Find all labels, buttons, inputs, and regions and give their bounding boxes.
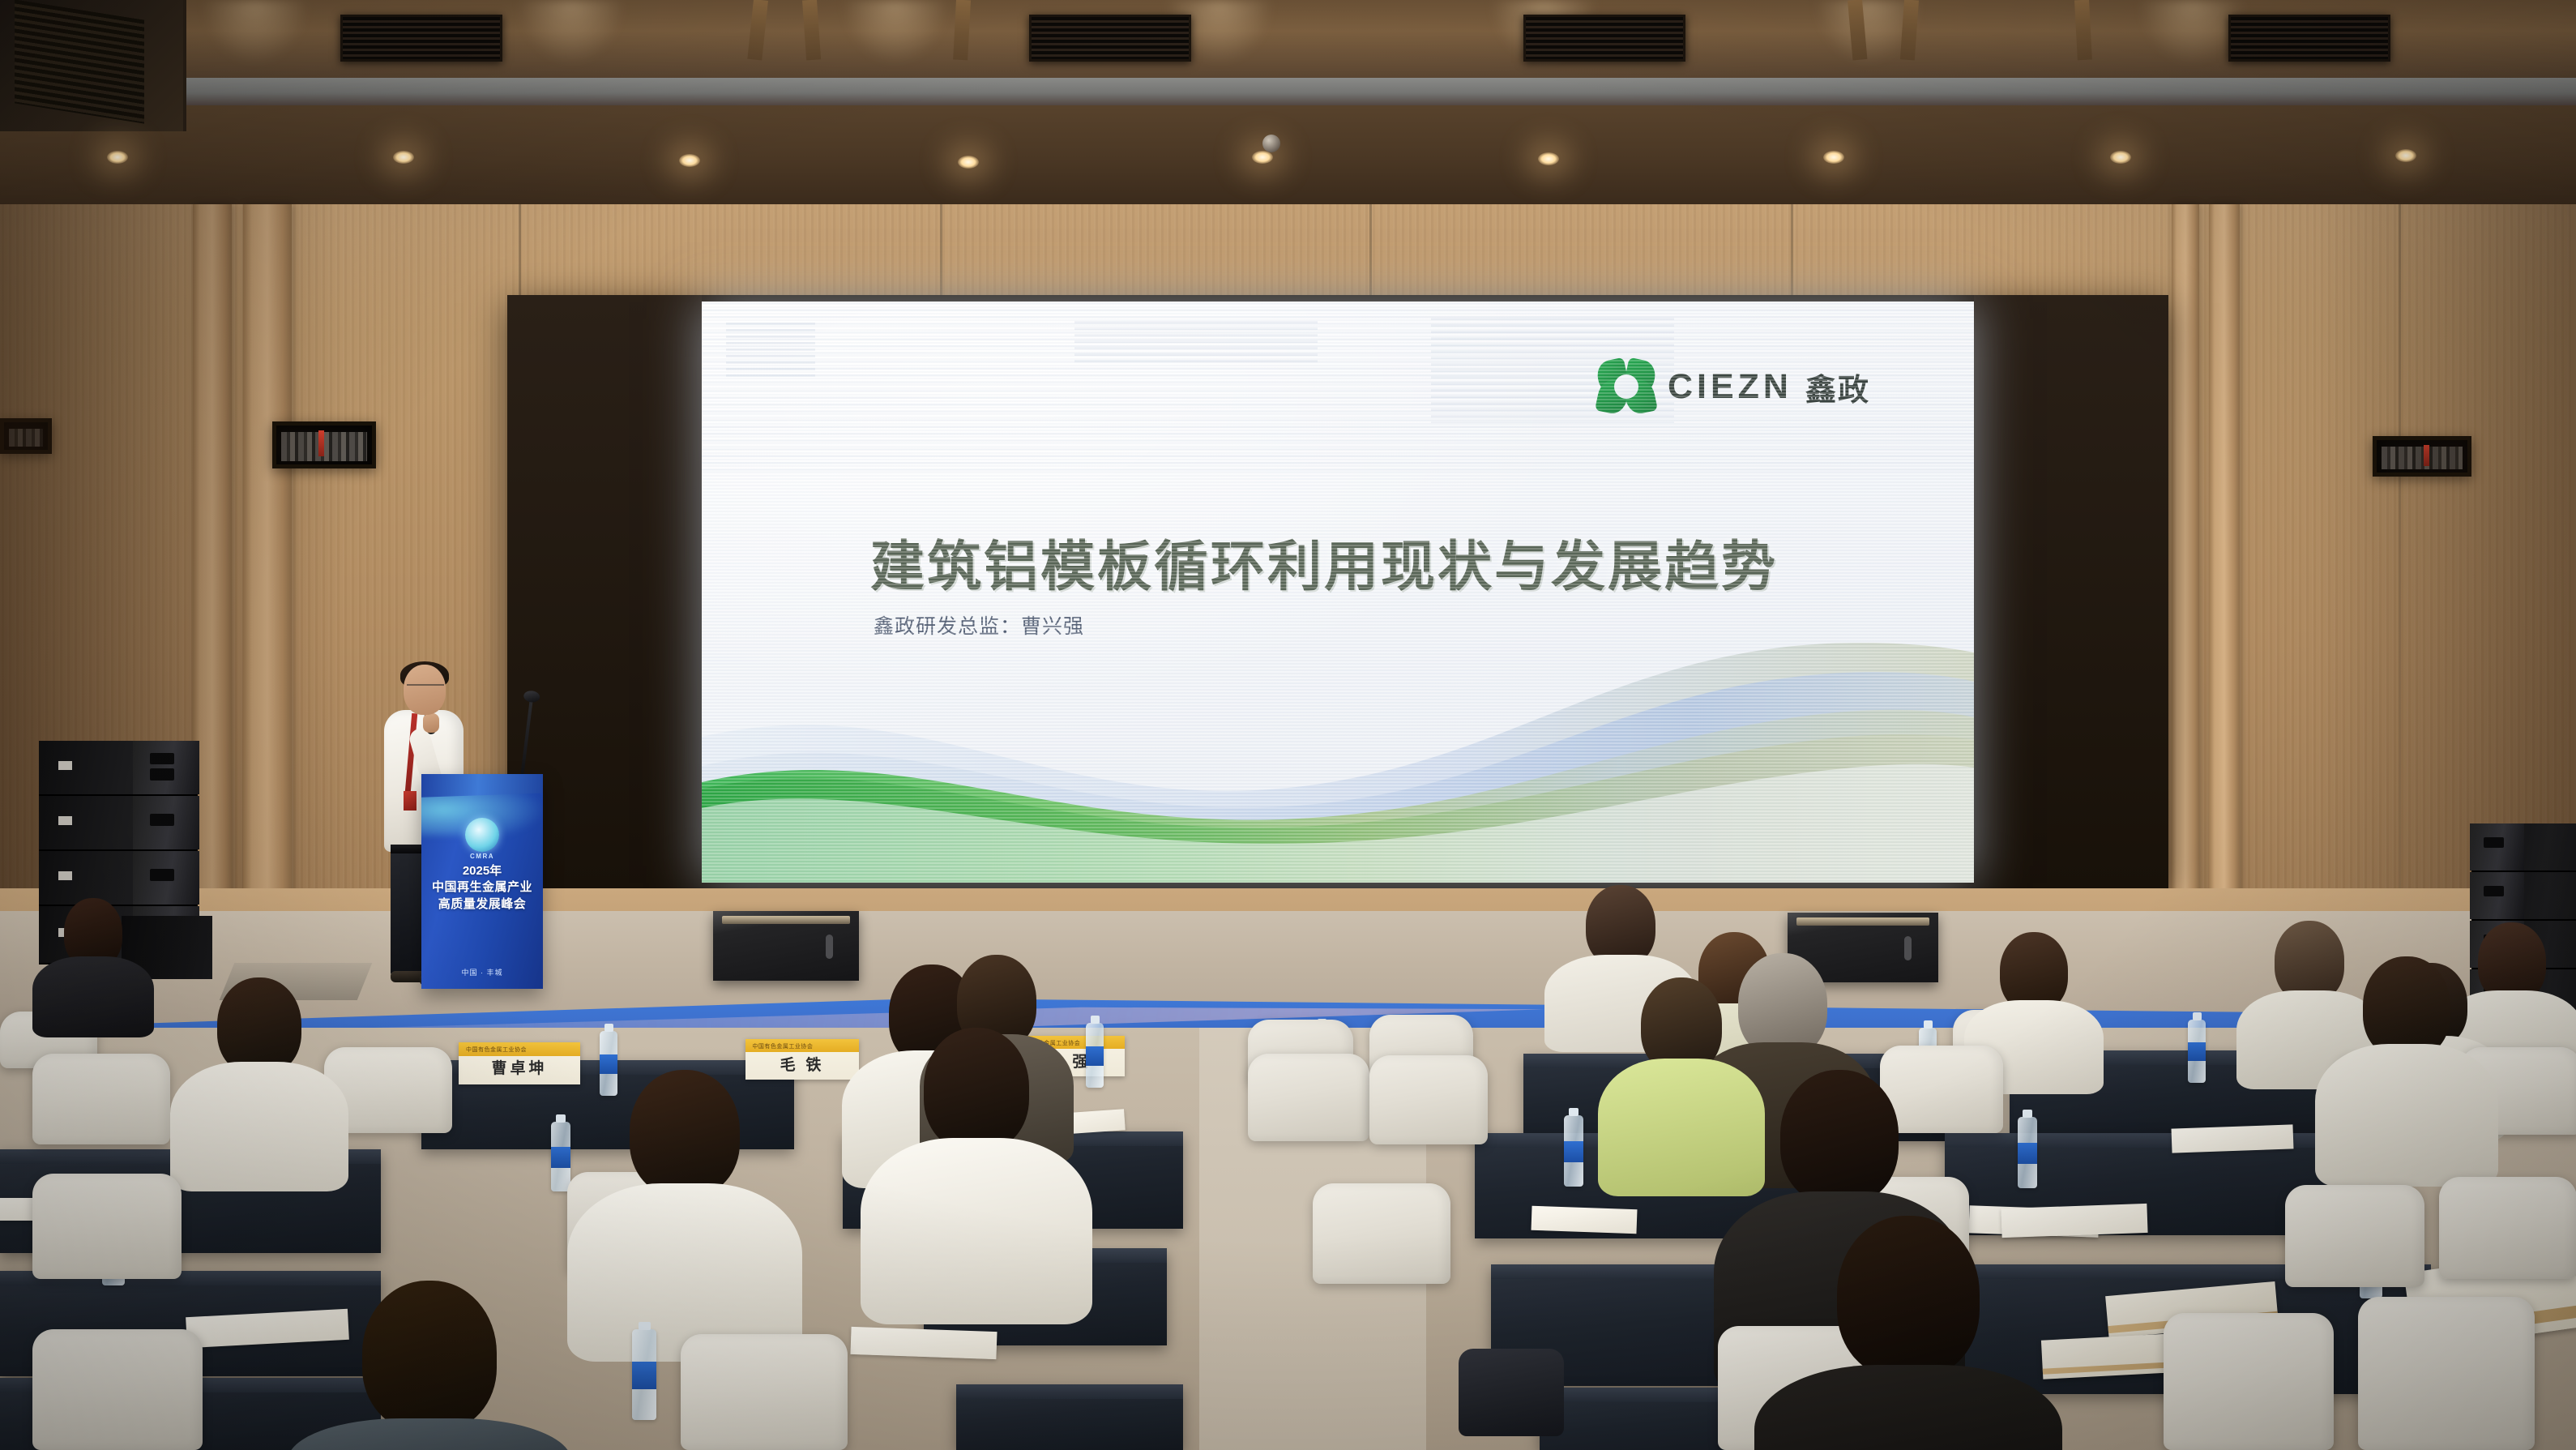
person-head bbox=[2275, 921, 2344, 1002]
water-bottle bbox=[551, 1122, 570, 1191]
name-card-org: 中国有色金属工业协会 bbox=[466, 1046, 527, 1054]
audience-member bbox=[49, 898, 138, 1028]
water-bottle bbox=[1086, 1023, 1104, 1088]
ceiling-corner-panel bbox=[0, 0, 186, 131]
ceiling-vent-grille bbox=[1523, 15, 1685, 62]
name-card-name: 曹卓坤 bbox=[459, 1056, 580, 1078]
ceiling-vent-grille bbox=[340, 15, 502, 62]
table-document bbox=[2172, 1124, 2294, 1153]
audience-chair bbox=[1313, 1183, 1450, 1284]
stage-monitor-speaker bbox=[713, 911, 859, 981]
person-head bbox=[1780, 1070, 1899, 1204]
name-card-name: 毛 铁 bbox=[745, 1053, 859, 1075]
audience-member bbox=[2261, 921, 2358, 1067]
logo-cjk-text: 鑫政 bbox=[1805, 365, 1870, 409]
podium-line-3: 高质量发展峰会 bbox=[421, 896, 543, 913]
audience-member bbox=[1985, 932, 2083, 1070]
table-name-card: 中国有色金属工业协会 曹卓坤 bbox=[459, 1042, 580, 1084]
line-array-module bbox=[2471, 872, 2576, 921]
line-array-horn bbox=[2470, 823, 2524, 870]
audience-chair bbox=[32, 1054, 170, 1144]
ceiling-downlight bbox=[1538, 152, 1559, 165]
presenter-badge bbox=[404, 791, 417, 811]
ceiling-vent-grille bbox=[1029, 15, 1191, 62]
floor-bag bbox=[1459, 1349, 1564, 1436]
audience-chair bbox=[32, 1174, 182, 1279]
audience-member bbox=[203, 977, 316, 1156]
ceiling-vent-grille bbox=[2228, 15, 2390, 62]
presenter-glasses bbox=[407, 684, 444, 692]
water-bottle bbox=[600, 1031, 617, 1096]
podium-event-title: 2025年 中国再生金属产业 高质量发展峰会 bbox=[421, 863, 543, 913]
table-document bbox=[1532, 1206, 1638, 1234]
ceiling-beam bbox=[2074, 0, 2092, 60]
person-head bbox=[924, 1028, 1029, 1151]
logo-latin-text: CIEZN bbox=[1668, 367, 1792, 407]
water-bottle bbox=[632, 1329, 656, 1420]
cmra-logo-icon bbox=[465, 818, 499, 852]
audience-member bbox=[1823, 1216, 1993, 1450]
ceiling-light-wash bbox=[203, 0, 308, 63]
audience-member bbox=[1629, 977, 1734, 1164]
person-head bbox=[217, 977, 301, 1075]
slide-artifact-block bbox=[1074, 321, 1318, 365]
audience-chair bbox=[1248, 1054, 1369, 1141]
slide-artifact-block bbox=[726, 323, 815, 379]
ceiling-downlight bbox=[1252, 151, 1273, 164]
water-bottle bbox=[1564, 1115, 1583, 1187]
screen-right-wing bbox=[1974, 295, 2168, 889]
ceiling-light-wash bbox=[843, 0, 948, 63]
jbl-brand-plate bbox=[58, 871, 72, 880]
presentation-screen[interactable]: CIEZN 鑫政 建筑铝模板循环利用现状与发展趋势 鑫政研发总监：曹兴强 bbox=[507, 295, 2168, 889]
table-document bbox=[850, 1327, 997, 1359]
person-torso bbox=[170, 1062, 348, 1191]
podium-footer-location: 中国 · 丰城 bbox=[421, 967, 543, 977]
slide-subtitle: 鑫政研发总监：曹兴强 bbox=[874, 610, 1084, 639]
line-array-module bbox=[39, 741, 198, 796]
ceiling-corner-grille bbox=[15, 0, 144, 124]
person-head bbox=[1586, 885, 1655, 966]
wall-pilaster bbox=[2209, 204, 2240, 934]
audience-chair bbox=[681, 1334, 848, 1450]
water-bottle bbox=[2018, 1117, 2037, 1188]
name-card-org: 中国有色金属工业协会 bbox=[752, 1042, 813, 1050]
person-head bbox=[1738, 953, 1827, 1057]
wall-pilaster bbox=[2172, 204, 2199, 934]
audience-chair bbox=[2439, 1177, 2576, 1279]
person-head bbox=[362, 1281, 497, 1431]
person-torso bbox=[32, 956, 154, 1037]
audience-chair bbox=[2358, 1297, 2535, 1450]
jbl-brand-plate bbox=[58, 816, 72, 825]
audience-table bbox=[956, 1384, 1183, 1450]
person-torso bbox=[861, 1138, 1092, 1324]
ceiling-downlight bbox=[2110, 151, 2131, 164]
person-torso bbox=[1598, 1059, 1765, 1196]
speaker-podium: CMRA 2025年 中国再生金属产业 高质量发展峰会 中国 · 丰城 bbox=[421, 774, 543, 989]
podium-line-2: 中国再生金属产业 bbox=[421, 879, 543, 896]
cmra-logo-label: CMRA bbox=[470, 853, 494, 860]
slide-title: 建筑铝模板循环利用现状与发展趋势 bbox=[870, 523, 1778, 601]
ceiling-downlight bbox=[958, 156, 979, 169]
ceiling-light-wash bbox=[519, 0, 624, 63]
jbl-brand-plate bbox=[58, 761, 72, 770]
ceiling-soffit bbox=[0, 78, 2576, 105]
person-head bbox=[1837, 1216, 1980, 1378]
audience-chair bbox=[32, 1329, 203, 1450]
person-torso bbox=[2315, 1044, 2498, 1187]
ceiling-smoke-detector bbox=[1262, 135, 1280, 152]
presenter-hand bbox=[423, 713, 439, 733]
ceiling-downlight bbox=[679, 154, 700, 167]
name-card-org-band: 中国有色金属工业协会 bbox=[745, 1039, 859, 1052]
table-name-card: 中国有色金属工业协会 毛 铁 bbox=[745, 1039, 859, 1080]
ceiling-downlight bbox=[393, 151, 414, 164]
audience-chair bbox=[2164, 1313, 2334, 1450]
slide-canvas[interactable]: CIEZN 鑫政 建筑铝模板循环利用现状与发展趋势 鑫政研发总监：曹兴强 bbox=[702, 302, 1974, 883]
audience-member bbox=[616, 1070, 754, 1313]
line-array-horn bbox=[2470, 872, 2524, 919]
audience-member bbox=[2350, 956, 2463, 1151]
audience-chair bbox=[2285, 1185, 2424, 1287]
ceiling-downlight bbox=[107, 151, 128, 164]
line-array-module bbox=[2471, 823, 2576, 872]
person-head bbox=[630, 1070, 740, 1196]
line-array-horn bbox=[133, 741, 199, 794]
ceiling bbox=[0, 0, 2576, 204]
audience-member bbox=[348, 1281, 511, 1450]
ciezn-butterfly-logo-icon bbox=[1598, 360, 1655, 413]
audience-chair bbox=[1369, 1055, 1488, 1144]
line-array-horn bbox=[133, 851, 199, 905]
audience-member bbox=[908, 1028, 1045, 1271]
ceiling-downlight bbox=[1823, 151, 1844, 164]
slide-logo: CIEZN 鑫政 bbox=[1598, 360, 1870, 413]
conference-hall-scene: CIEZN 鑫政 建筑铝模板循环利用现状与发展趋势 鑫政研发总监：曹兴强 bbox=[0, 0, 2576, 1450]
line-array-horn bbox=[133, 796, 199, 849]
table-document bbox=[2001, 1204, 2147, 1238]
podium-line-1: 2025年 bbox=[421, 863, 543, 879]
line-array-module bbox=[39, 796, 198, 851]
slide-wave-graphic bbox=[702, 615, 1974, 883]
water-bottle bbox=[2188, 1020, 2206, 1083]
ceiling-downlight bbox=[2395, 149, 2416, 162]
name-card-org-band: 中国有色金属工业协会 bbox=[459, 1042, 580, 1056]
